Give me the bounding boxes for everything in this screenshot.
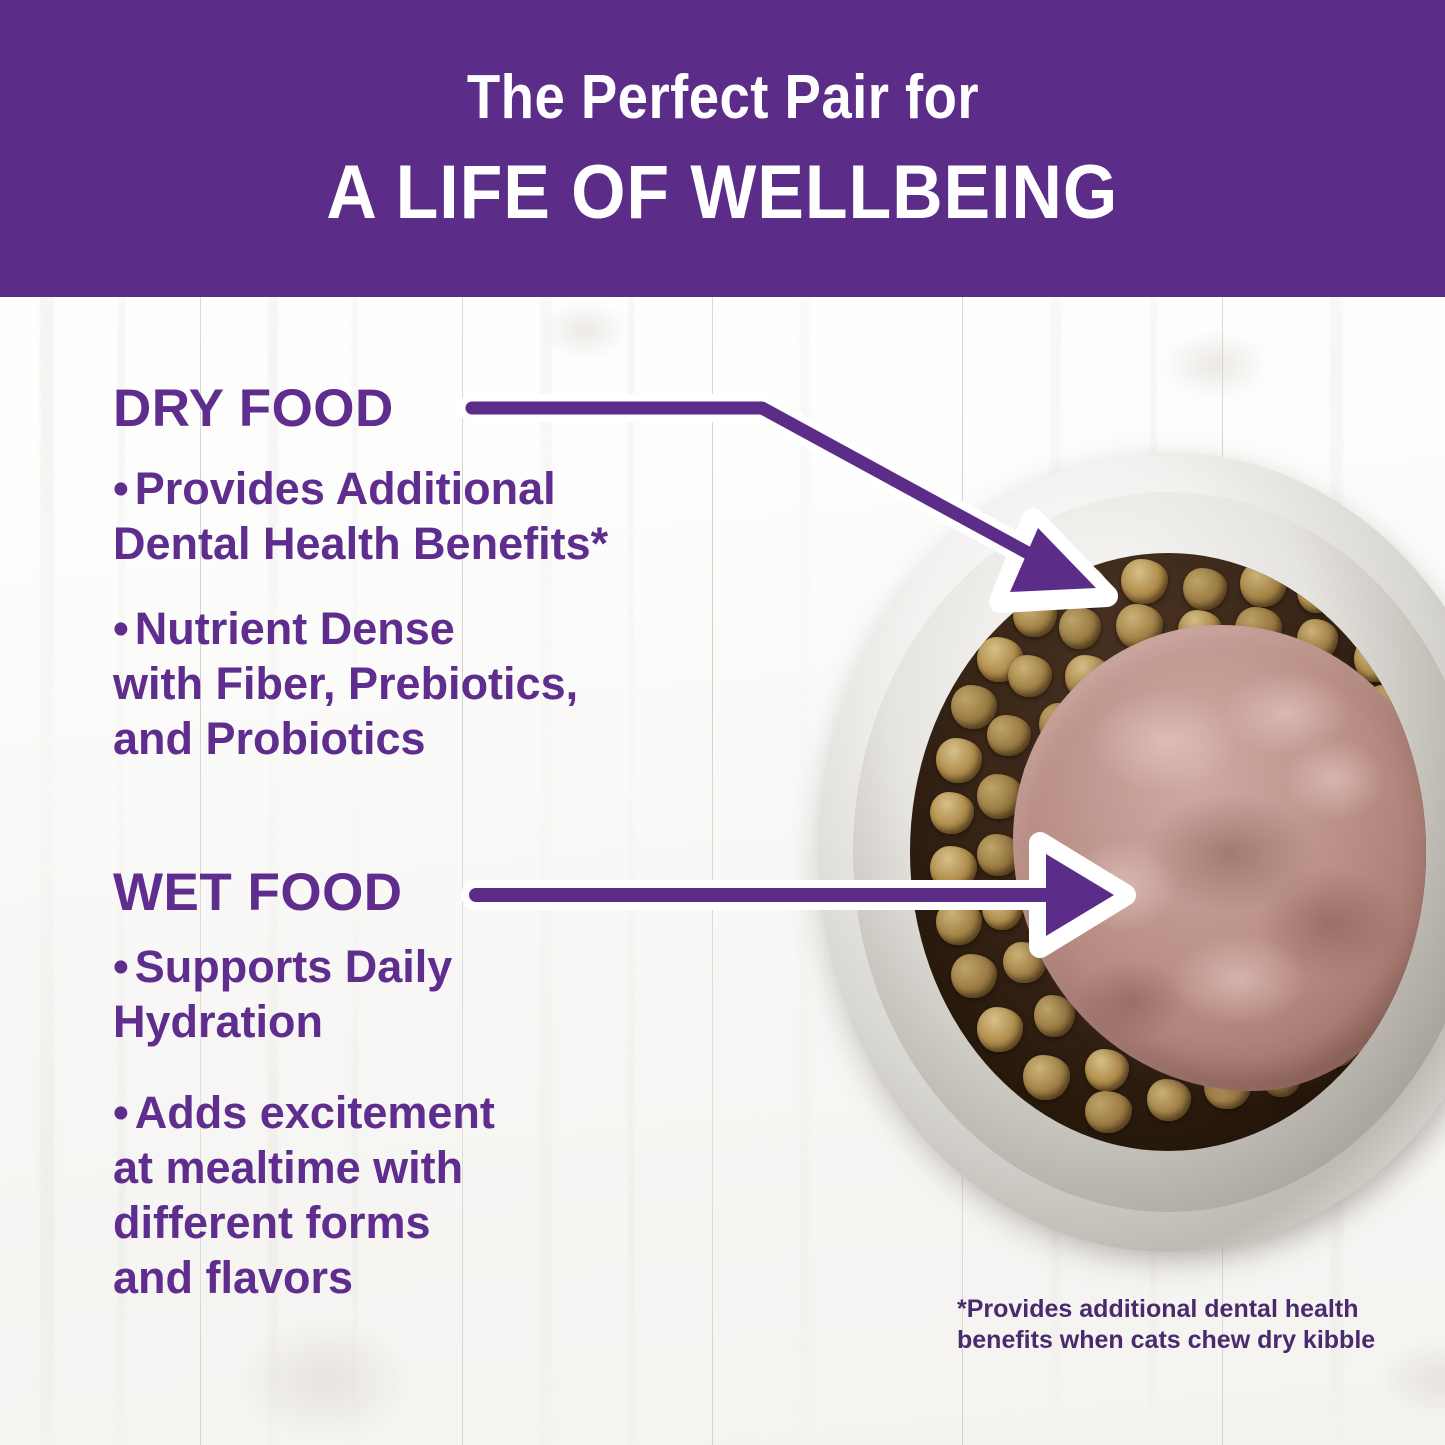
bullet-dot-icon: • bbox=[113, 941, 135, 992]
bullet-dot-icon: • bbox=[113, 1087, 135, 1138]
bullet-line: Adds excitement bbox=[135, 1087, 495, 1138]
dry-food-section: DRY FOOD bbox=[113, 382, 773, 435]
dry-food-bullet-2: •Nutrient Dense with Fiber, Prebiotics, … bbox=[113, 602, 773, 767]
bullet-dot-icon: • bbox=[113, 603, 135, 654]
header-title-line-2: A LIFE OF WELLBEING bbox=[327, 155, 1119, 231]
bullet-line: Supports Daily bbox=[135, 941, 453, 992]
bullet-line: Nutrient Dense bbox=[135, 603, 455, 654]
bullet-line: Hydration bbox=[113, 996, 323, 1047]
bullet-line: and Probiotics bbox=[113, 713, 426, 764]
header-banner: The Perfect Pair for A LIFE OF WELLBEING bbox=[0, 0, 1445, 297]
advertisement-panel: The Perfect Pair for A LIFE OF WELLBEING bbox=[0, 0, 1445, 1445]
cat-food-bowl-photo bbox=[818, 452, 1445, 1252]
bullet-line: and flavors bbox=[113, 1252, 353, 1303]
bullet-line: at mealtime with bbox=[113, 1142, 463, 1193]
wet-food-heading: WET FOOD bbox=[113, 866, 773, 919]
header-title-line-1: The Perfect Pair for bbox=[466, 67, 978, 129]
bullet-line: with Fiber, Prebiotics, bbox=[113, 658, 578, 709]
bowl-inner-rim bbox=[853, 492, 1445, 1212]
wet-food-section: WET FOOD bbox=[113, 866, 773, 919]
wet-food-bullet-2: •Adds excitement at mealtime with differ… bbox=[113, 1086, 773, 1306]
dry-food-bullet-1: •Provides Additional Dental Health Benef… bbox=[113, 462, 773, 572]
bullet-dot-icon: • bbox=[113, 463, 135, 514]
footnote-line-1: *Provides additional dental health bbox=[957, 1294, 1377, 1325]
footnote-line-2: benefits when cats chew dry kibble bbox=[957, 1325, 1377, 1356]
bullet-line: Provides Additional bbox=[135, 463, 556, 514]
bullet-line: different forms bbox=[113, 1197, 431, 1248]
bullet-line: Dental Health Benefits* bbox=[113, 518, 608, 569]
dry-food-heading: DRY FOOD bbox=[113, 382, 773, 435]
bowl-outer-rim bbox=[818, 452, 1445, 1252]
bowl-cavity bbox=[910, 553, 1427, 1151]
footnote: *Provides additional dental health benef… bbox=[957, 1294, 1377, 1357]
wet-food-bullet-1: •Supports Daily Hydration bbox=[113, 940, 773, 1050]
